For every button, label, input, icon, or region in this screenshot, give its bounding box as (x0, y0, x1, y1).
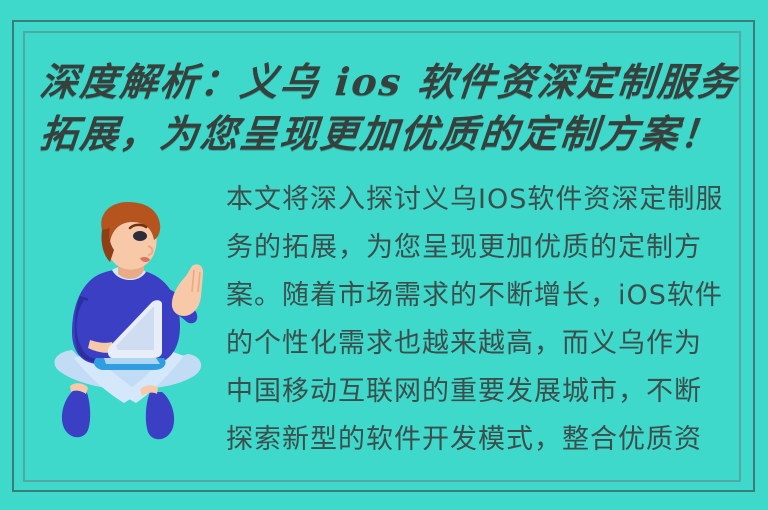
body-line-5: 中国移动互联网的重要发展城市，不断 (226, 368, 746, 416)
poster-body-text: 本文将深入探讨义乌IOS软件资深定制服 务的拓展，为您呈现更加优质的定制方 案。… (226, 176, 746, 464)
poster-canvas: 深度解析：义乌 ios 软件资深定制服务 拓展，为您呈现更加优质的定制方案！ 本… (0, 0, 768, 510)
title-line-1: 深度解析：义乌 ios 软件资深定制服务 (38, 56, 733, 108)
laptop-keyboard (104, 358, 160, 364)
body-line-2: 务的拓展，为您呈现更加优质的定制方 (226, 224, 746, 272)
sock-left (62, 390, 90, 437)
eye (133, 231, 147, 241)
sock-right (146, 392, 174, 439)
body-line-4: 的个性化需求也越来越高，而义乌作为 (226, 320, 746, 368)
person-with-laptop-illustration (44, 200, 224, 445)
body-line-6: 探索新型的软件开发模式，整合优质资 (226, 416, 746, 464)
body-line-1: 本文将深入探讨义乌IOS软件资深定制服 (226, 176, 746, 224)
poster-title: 深度解析：义乌 ios 软件资深定制服务 拓展，为您呈现更加优质的定制方案！ (40, 56, 730, 160)
title-line-2: 拓展，为您呈现更加优质的定制方案！ (38, 108, 733, 160)
body-line-3: 案。随着市场需求的不断增长，iOS软件 (226, 272, 746, 320)
